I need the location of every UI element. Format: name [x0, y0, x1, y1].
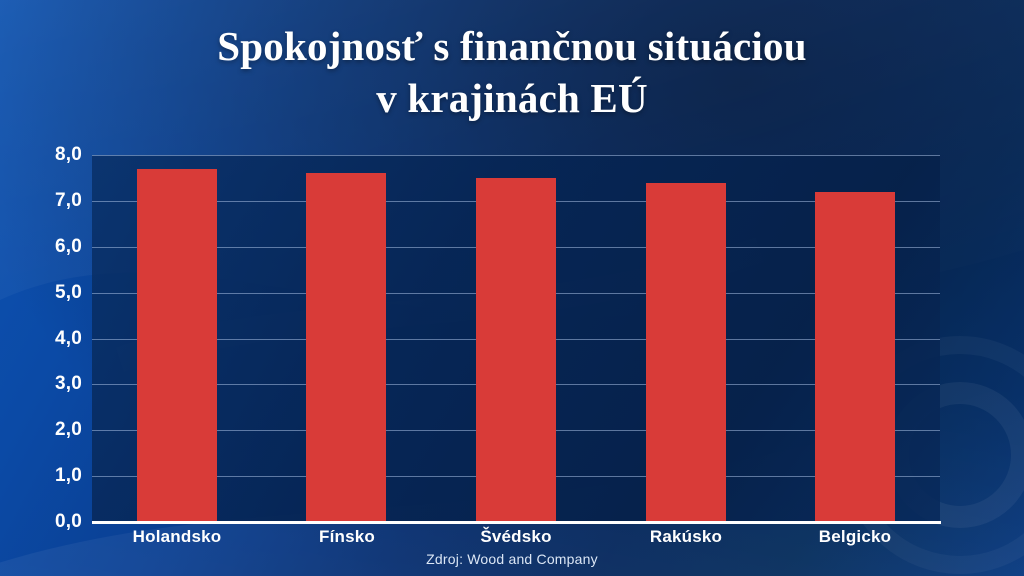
y-axis-tick-label: 6,0 [8, 236, 82, 258]
chart-title-line-1: Spokojnosť s finančnou situáciou [0, 20, 1024, 72]
y-axis-tick-label: 7,0 [8, 190, 82, 212]
bar [137, 169, 217, 522]
slide-canvas: Spokojnosť s finančnou situáciou v kraji… [0, 0, 1024, 576]
y-axis-tick-label: 0,0 [8, 511, 82, 533]
bar [476, 178, 556, 522]
x-axis-line [92, 521, 941, 524]
bar [646, 183, 726, 522]
x-axis-tick-label: Holandsko [92, 527, 262, 547]
source-note: Zdroj: Wood and Company [0, 551, 1024, 567]
y-axis-tick-label: 5,0 [8, 282, 82, 304]
y-axis-tick-label: 4,0 [8, 328, 82, 350]
chart-title: Spokojnosť s finančnou situáciou v kraji… [0, 20, 1024, 124]
bar [815, 192, 895, 522]
x-axis-tick-label: Rakúsko [601, 527, 771, 547]
chart-title-line-2: v krajinách EÚ [0, 72, 1024, 124]
x-axis-tick-label: Švédsko [431, 527, 601, 547]
y-axis-tick-label: 1,0 [8, 465, 82, 487]
y-axis-tick-label: 3,0 [8, 373, 82, 395]
y-axis-tick-label: 2,0 [8, 419, 82, 441]
x-axis-tick-label: Belgicko [770, 527, 940, 547]
bar [306, 173, 386, 522]
x-axis-tick-label: Fínsko [262, 527, 432, 547]
y-axis-tick-label: 8,0 [8, 144, 82, 166]
